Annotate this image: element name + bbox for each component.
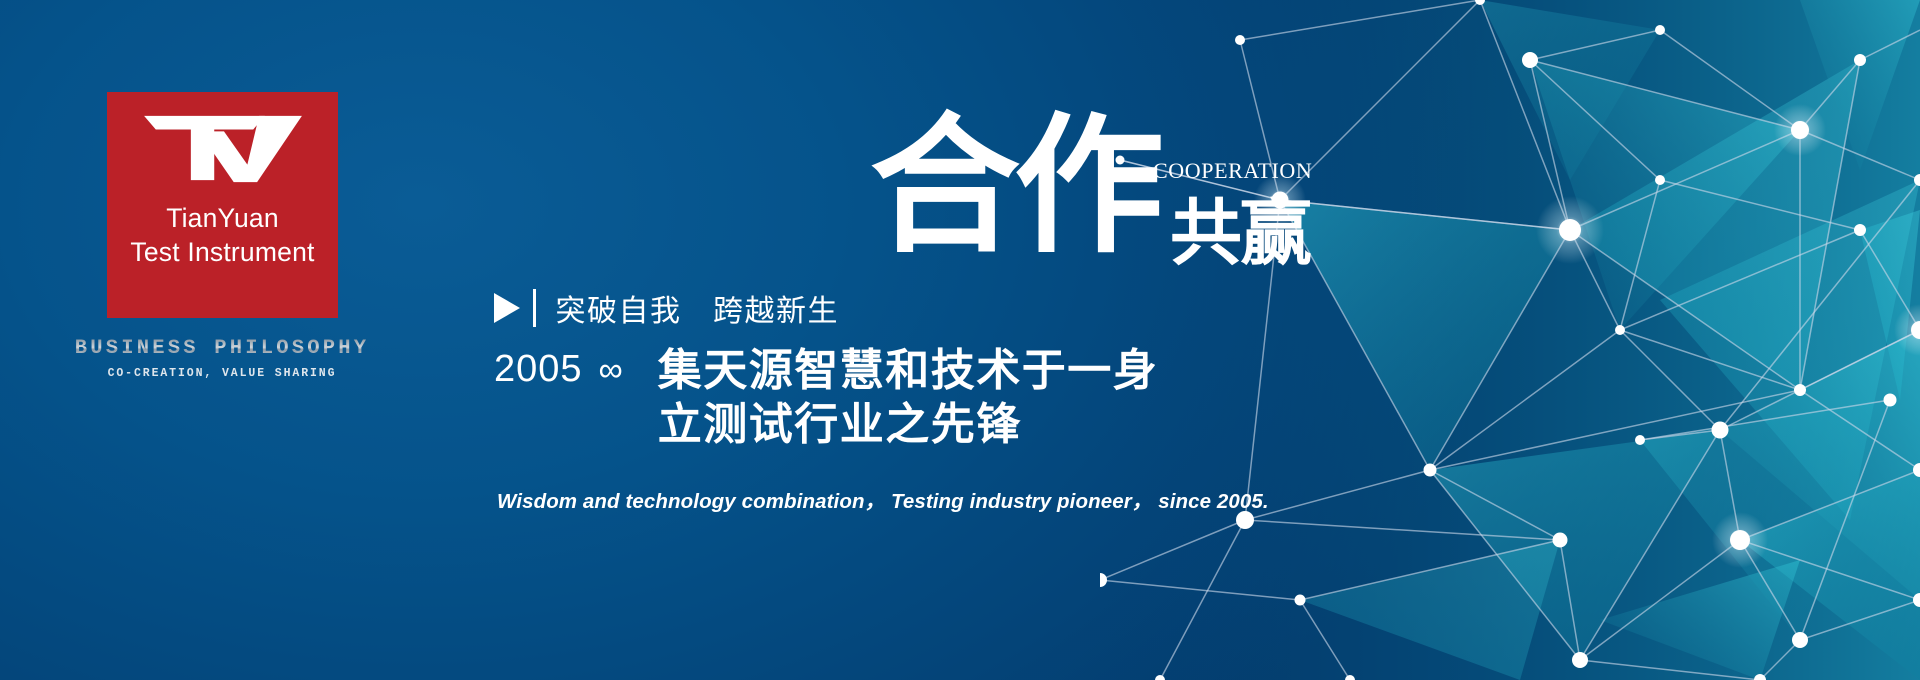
promo-banner: TianYuan Test Instrument BUSINESS PHILOS… (0, 0, 1920, 680)
slogan-line-2: 立测试行业之先锋 (658, 398, 1159, 452)
founding-year-block: 2005∞ (494, 344, 624, 391)
slogan-block: 突破自我 跨越新生 2005∞ 集天源智慧和技术于一身 立测试行业之先锋 (494, 286, 1158, 451)
slogan-main-row: 2005∞ 集天源智慧和技术于一身 立测试行业之先锋 (494, 344, 1158, 451)
philosophy-heading: BUSINESS PHILOSOPHY (52, 337, 392, 360)
cooperation-english-label: COOPERATION (1153, 158, 1312, 184)
infinity-symbol: ∞ (599, 351, 624, 389)
business-philosophy-block: BUSINESS PHILOSOPHY CO-CREATION, VALUE S… (52, 337, 392, 380)
philosophy-subheading: CO-CREATION, VALUE SHARING (52, 367, 392, 380)
slogan-main-lines: 集天源智慧和技术于一身 立测试行业之先锋 (658, 344, 1159, 451)
logo-card: TianYuan Test Instrument (107, 92, 338, 318)
slogan-headline-row: 突破自我 跨越新生 (494, 286, 1158, 330)
logo-company-name-line1: TianYuan (166, 202, 279, 236)
company-logo-block: TianYuan Test Instrument (107, 92, 338, 318)
divider-bar (533, 289, 536, 327)
svg-text:共赢: 共赢 (1170, 194, 1311, 274)
play-triangle-icon (494, 293, 520, 323)
svg-text:合作: 合作 (870, 105, 1161, 271)
founding-year: 2005 (494, 348, 583, 390)
logo-company-name-line2: Test Instrument (130, 236, 314, 270)
ty-monogram-icon (138, 110, 308, 186)
slogan-headline: 突破自我 跨越新生 (556, 286, 840, 330)
slogan-line-1: 集天源智慧和技术于一身 (658, 344, 1159, 398)
english-tagline: Wisdom and technology combination， Testi… (497, 484, 1269, 514)
